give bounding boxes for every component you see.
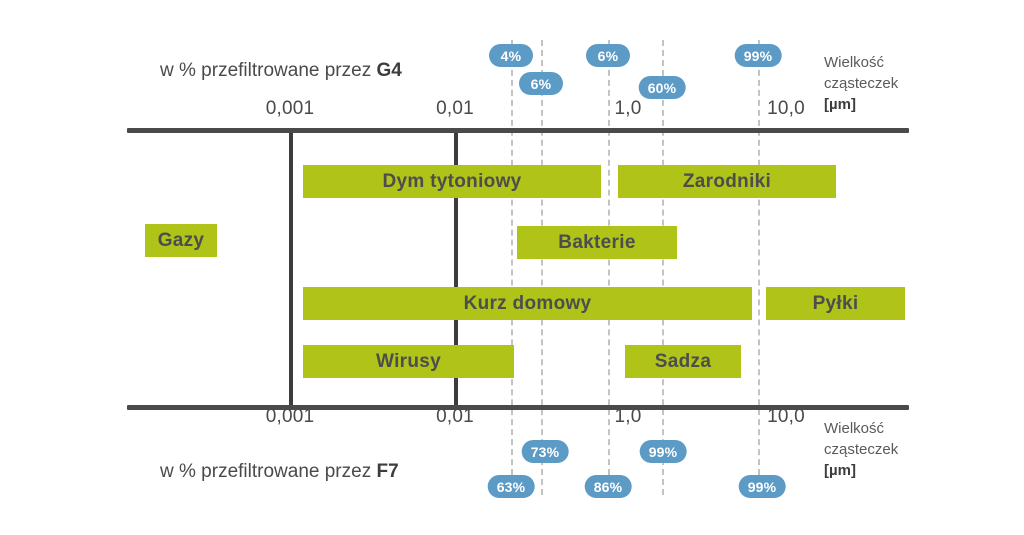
g4-percent-pill-0: 4% [489, 44, 533, 67]
bar-label: Gazy [158, 230, 205, 252]
top-caption-filter: G4 [376, 60, 401, 81]
bar-label: Dym tytoniowy [382, 171, 521, 193]
bottom-unit-line3: [µm] [824, 460, 898, 481]
f7-percent-pill-0: 63% [488, 475, 535, 498]
top-axis-line [127, 128, 909, 133]
bar-pyłki: Pyłki [766, 287, 905, 320]
bottom-unit-legend: Wielkość cząsteczek [µm] [824, 418, 898, 481]
bottom-caption: w % przefiltrowane przez F7 [160, 461, 399, 483]
bottom-unit-line1: Wielkość [824, 418, 898, 439]
bar-label: Zarodniki [683, 171, 771, 193]
g4-percent-pill-3: 60% [639, 76, 686, 99]
bar-label: Sadza [655, 351, 711, 373]
top-tick-label-10-0: 10,0 [767, 98, 805, 120]
top-unit-line1: Wielkość [824, 52, 898, 73]
bottom-caption-text: w % przefiltrowane przez [160, 461, 376, 482]
bar-gazy: Gazy [145, 224, 217, 257]
bottom-caption-filter: F7 [376, 461, 398, 482]
top-tick-label-0-01: 0,01 [436, 98, 474, 120]
top-caption-text: w % przefiltrowane przez [160, 60, 376, 81]
bottom-tick-label-0-01: 0,01 [436, 406, 474, 428]
gridline-4 [758, 40, 760, 495]
f7-percent-pill-4: 99% [739, 475, 786, 498]
bar-dym-tytoniowy: Dym tytoniowy [303, 165, 601, 198]
gridline-0 [511, 40, 513, 495]
bottom-unit-line2: cząsteczek [824, 439, 898, 460]
bottom-tick-label-0-001: 0,001 [266, 406, 315, 428]
top-unit-legend: Wielkość cząsteczek [µm] [824, 52, 898, 115]
top-caption: w % przefiltrowane przez G4 [160, 60, 402, 82]
top-unit-line3: [µm] [824, 94, 898, 115]
g4-percent-pill-2: 6% [586, 44, 630, 67]
top-unit-line2: cząsteczek [824, 73, 898, 94]
gridline-2 [608, 40, 610, 495]
bar-label: Wirusy [376, 351, 441, 373]
major-tick-0 [289, 130, 293, 405]
bar-sadza: Sadza [625, 345, 741, 378]
top-tick-label-1-0: 1,0 [614, 98, 641, 120]
gridline-1 [541, 40, 543, 495]
bar-label: Bakterie [558, 232, 635, 254]
f7-percent-pill-2: 86% [585, 475, 632, 498]
bar-kurz-domowy: Kurz domowy [303, 287, 752, 320]
f7-percent-pill-1: 73% [522, 440, 569, 463]
f7-percent-pill-3: 99% [640, 440, 687, 463]
bottom-tick-label-10-0: 10,0 [767, 406, 805, 428]
bar-bakterie: Bakterie [517, 226, 677, 259]
gridline-3 [662, 40, 664, 495]
bar-wirusy: Wirusy [303, 345, 514, 378]
bar-label: Pyłki [813, 293, 859, 315]
top-tick-label-0-001: 0,001 [266, 98, 315, 120]
g4-percent-pill-1: 6% [519, 72, 563, 95]
chart-canvas: w % przefiltrowane przez G4 w % przefilt… [0, 0, 1024, 535]
bar-label: Kurz domowy [464, 293, 592, 315]
bottom-tick-label-1-0: 1,0 [614, 406, 641, 428]
bar-zarodniki: Zarodniki [618, 165, 836, 198]
g4-percent-pill-4: 99% [735, 44, 782, 67]
